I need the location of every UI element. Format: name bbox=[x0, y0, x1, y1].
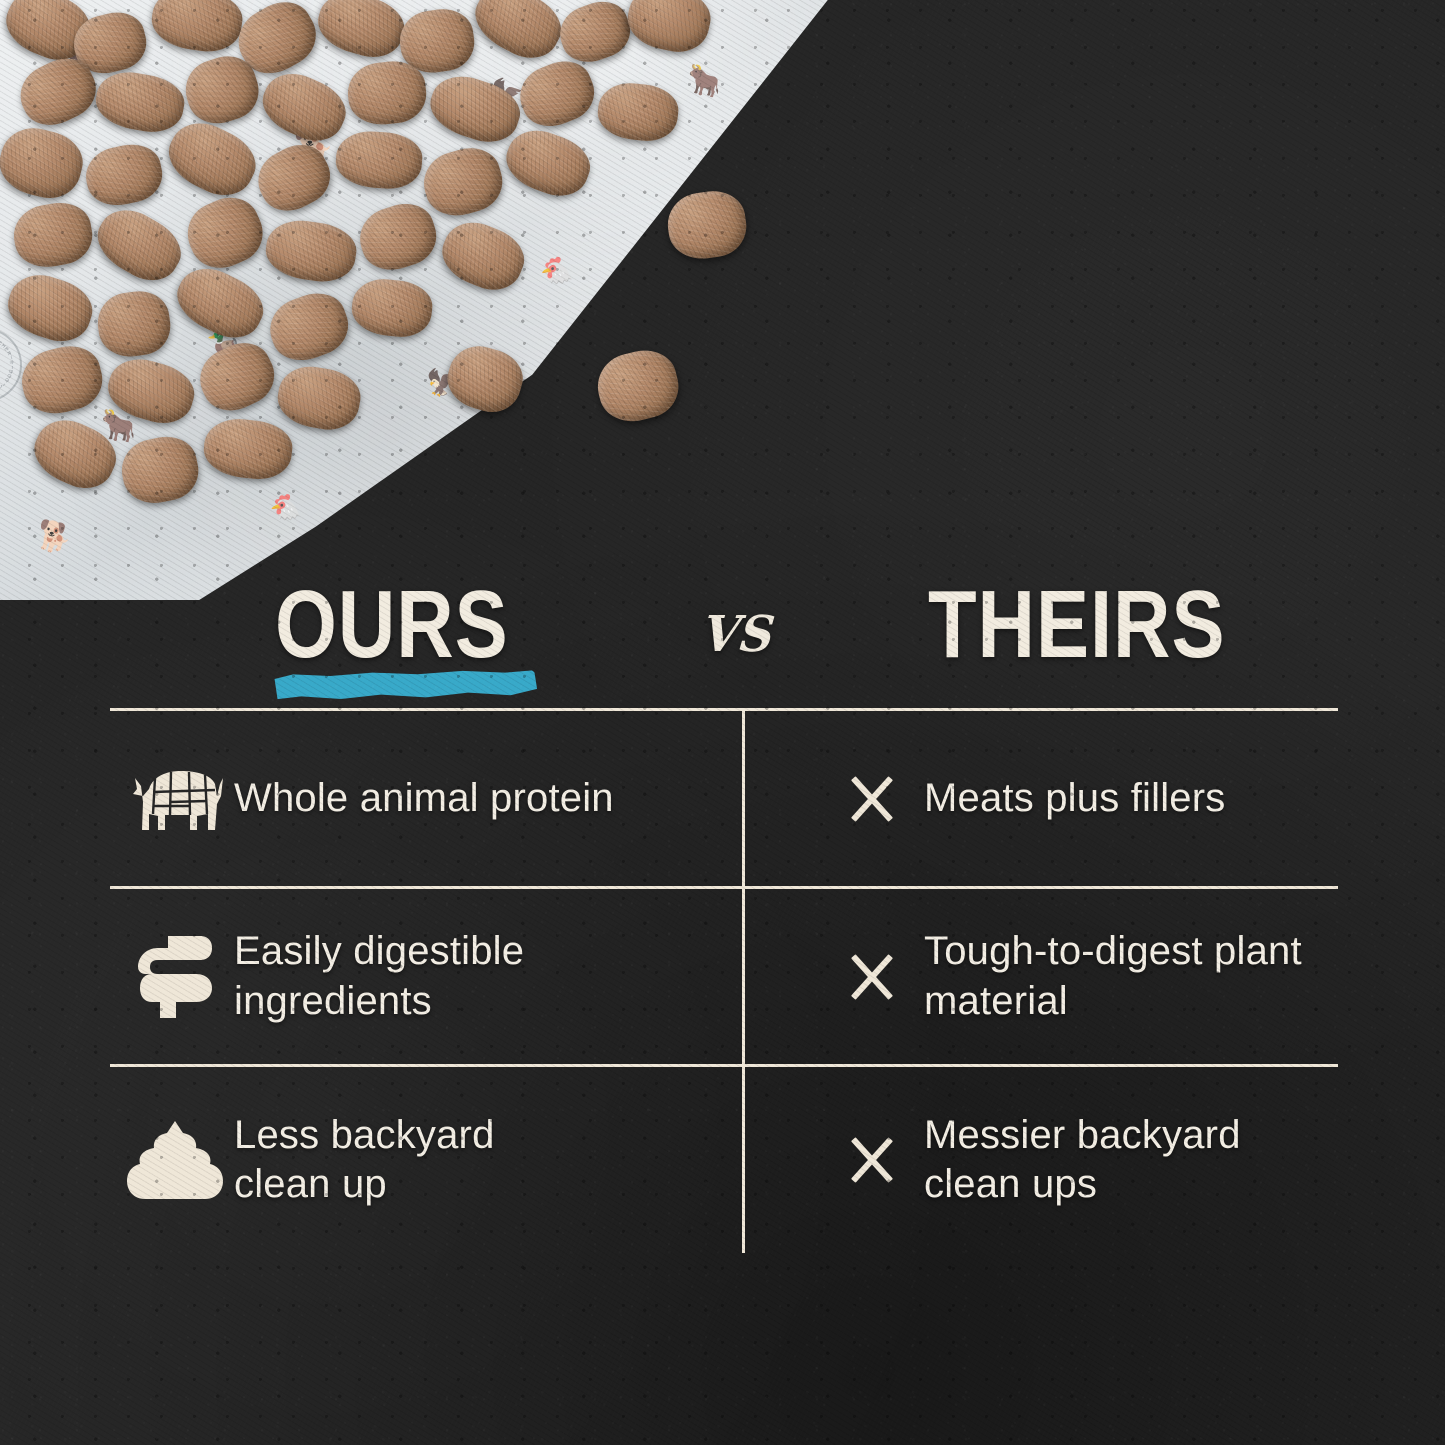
cow-butcher-cuts-icon bbox=[116, 756, 234, 842]
theirs-row-text: Messier backyard clean ups bbox=[924, 1111, 1324, 1209]
table-header: OURS VS THEIRS bbox=[110, 560, 1338, 708]
ours-heading: OURS bbox=[275, 571, 509, 680]
kibble-nugget-scattered bbox=[664, 187, 750, 263]
x-icon bbox=[820, 949, 924, 1005]
x-icon bbox=[820, 1132, 924, 1188]
poop-icon bbox=[116, 1119, 234, 1201]
ours-cell: Easily digestible ingredients bbox=[110, 889, 742, 1064]
comparison-rows: Whole animal protein Meats plus fillers bbox=[110, 708, 1338, 1253]
table-row: Less backyard clean up Messier backyard … bbox=[110, 1067, 1338, 1253]
ours-row-text: Whole animal protein bbox=[234, 774, 614, 823]
theirs-cell: Meats plus fillers bbox=[742, 711, 1338, 886]
ours-vs-theirs-table: OURS VS THEIRS bbox=[110, 560, 1338, 1253]
table-row: Easily digestible ingredients Tough-to-d… bbox=[110, 889, 1338, 1067]
ours-row-text: Less backyard clean up bbox=[234, 1111, 594, 1209]
column-divider bbox=[742, 711, 745, 1253]
lamb-icon: 🐑 bbox=[773, 197, 815, 234]
x-icon bbox=[820, 771, 924, 827]
product-photo: 🐂 🐕 🦅 🐔 🐂 🐑 🦅 🦆 🐂 🐔 🐕 🦅 🐑 A BUTCHER'S DO… bbox=[0, 0, 840, 600]
theirs-cell: Messier backyard clean ups bbox=[742, 1067, 1338, 1253]
theirs-row-text: Tough-to-digest plant material bbox=[924, 927, 1304, 1025]
theirs-row-text: Meats plus fillers bbox=[924, 774, 1225, 823]
theirs-cell: Tough-to-digest plant material bbox=[742, 889, 1338, 1064]
table-row: Whole animal protein Meats plus fillers bbox=[110, 711, 1338, 889]
ours-row-text: Easily digestible ingredients bbox=[234, 927, 654, 1025]
vs-label: VS bbox=[701, 606, 777, 664]
product-comparison-graphic: 🐂 🐕 🦅 🐔 🐂 🐑 🦅 🦆 🐂 🐔 🐕 🦅 🐑 A BUTCHER'S DO… bbox=[0, 0, 1445, 1445]
theirs-heading: THEIRS bbox=[928, 571, 1226, 680]
ours-cell: Whole animal protein bbox=[110, 711, 742, 886]
ours-cell: Less backyard clean up bbox=[110, 1067, 742, 1253]
kibble-nugget-scattered bbox=[591, 343, 685, 428]
intestine-icon bbox=[116, 930, 234, 1024]
